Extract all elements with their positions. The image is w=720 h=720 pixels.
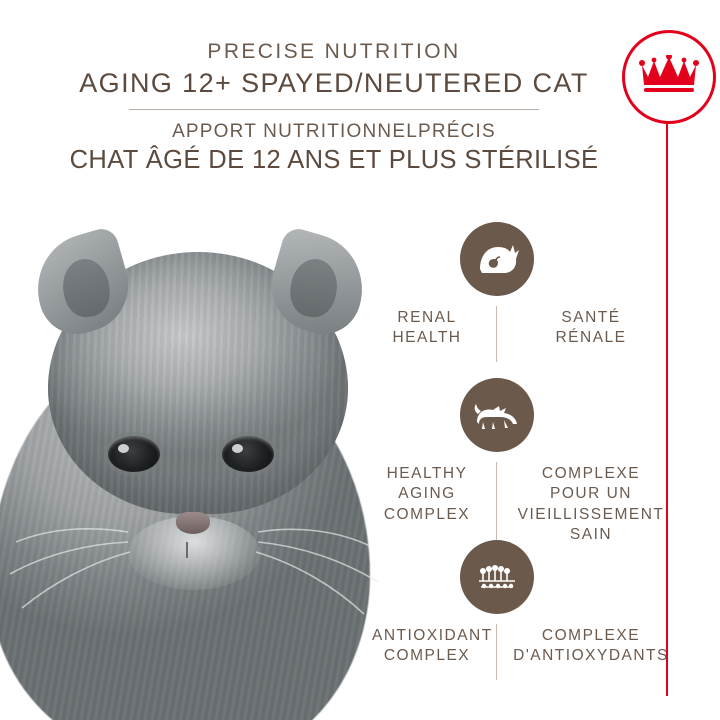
benefit-label-en-line: RENAL <box>372 308 482 328</box>
cat-eye-glint-left <box>118 444 129 453</box>
benefit-labels: RENAL HEALTH SANTÉ RÉNALE <box>372 308 672 349</box>
benefit-label-fr-line: D'ANTIOXYDANTS <box>510 646 672 666</box>
benefit-labels: ANTIOXIDANT COMPLEX COMPLEXE D'ANTIOXYDA… <box>372 626 672 667</box>
royal-canin-crown-logo <box>622 30 716 124</box>
cat-nose <box>176 512 210 534</box>
benefit-label-en-line: COMPLEX <box>372 505 482 525</box>
antioxidant-molecule-icon <box>460 540 534 614</box>
crown-icon <box>638 55 700 99</box>
packaging-panel: PRECISE NUTRITION AGING 12+ SPAYED/NEUTE… <box>0 0 720 720</box>
benefit-label-en: RENAL HEALTH <box>372 308 496 349</box>
red-vertical-rule <box>666 84 668 696</box>
benefit-label-en-line: HEALTH <box>372 328 482 348</box>
cat-photo <box>0 160 400 720</box>
cat-kidney-renal-icon <box>460 222 534 296</box>
precise-nutrition-label-fr: APPORT NUTRITIONNELPRÉCIS <box>60 121 608 143</box>
benefit-label-fr-line: POUR UN <box>510 484 672 504</box>
benefit-label-en-line: AGING <box>372 484 482 504</box>
heading-divider <box>129 109 539 110</box>
cat-ear-inner-left <box>59 256 113 320</box>
benefit-label-en-line: HEALTHY <box>372 464 482 484</box>
benefit-label-fr-line: SANTÉ <box>510 308 672 328</box>
benefit-label-fr: SANTÉ RÉNALE <box>496 308 672 349</box>
cat-eye-glint-right <box>232 444 243 453</box>
cat-kidney-renal-icon-glyph <box>474 239 520 279</box>
jumping-cat-aging-icon <box>460 378 534 452</box>
benefit-label-fr-line: RÉNALE <box>510 328 672 348</box>
product-name-fr: CHAT ÂGÉ DE 12 ANS ET PLUS STÉRILISÉ <box>60 146 608 175</box>
benefit-label-fr: COMPLEXE D'ANTIOXYDANTS <box>496 626 672 667</box>
cat-mouth <box>186 542 188 558</box>
cat-eye-right <box>222 436 274 472</box>
benefit-label-fr-line: VIEILLISSEMENT <box>510 505 672 525</box>
benefit-label-fr: COMPLEXE POUR UN VIEILLISSEMENT SAIN <box>496 464 672 546</box>
precise-nutrition-label: PRECISE NUTRITION <box>60 40 608 64</box>
cat-eye-left <box>108 436 160 472</box>
jumping-cat-aging-icon-glyph <box>473 398 521 432</box>
benefit-label-fr-line: COMPLEXE <box>510 626 672 646</box>
benefit-label-en-line: COMPLEX <box>372 646 482 666</box>
heading-block: PRECISE NUTRITION AGING 12+ SPAYED/NEUTE… <box>60 40 608 175</box>
benefit-label-en-line: ANTIOXIDANT <box>372 626 482 646</box>
benefit-label-fr-line: COMPLEXE <box>510 464 672 484</box>
product-name-en: AGING 12+ SPAYED/NEUTERED CAT <box>60 68 608 99</box>
antioxidant-molecule-icon-glyph <box>473 559 521 595</box>
benefit-label-en: HEALTHY AGING COMPLEX <box>372 464 496 546</box>
cat-ear-inner-right <box>287 256 341 320</box>
benefit-label-en: ANTIOXIDANT COMPLEX <box>372 626 496 667</box>
benefit-label-fr-line: SAIN <box>510 525 672 545</box>
benefit-labels: HEALTHY AGING COMPLEX COMPLEXE POUR UN V… <box>372 464 672 546</box>
